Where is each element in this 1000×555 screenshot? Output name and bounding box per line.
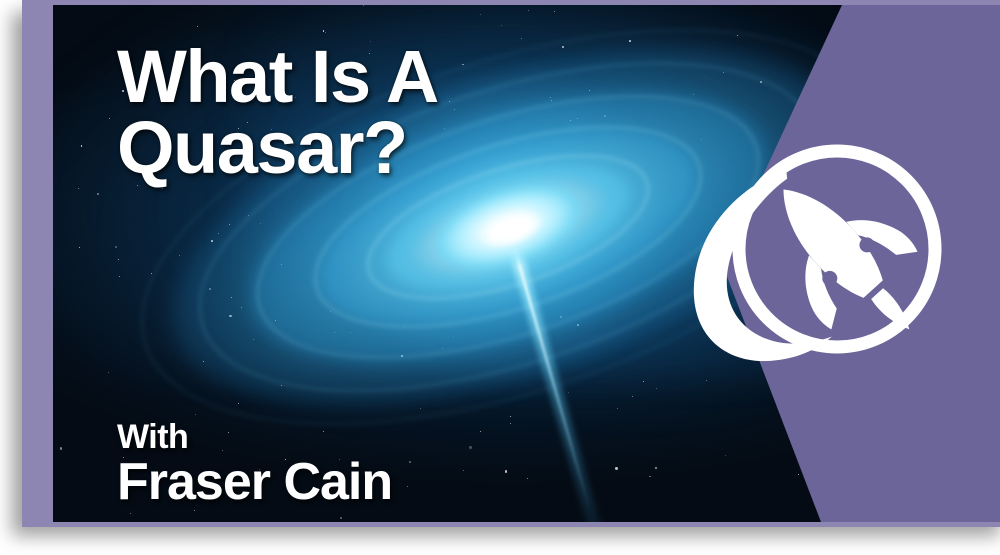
universe-today-rocket-logo	[693, 123, 953, 383]
page-title: What Is A Quasar?	[117, 41, 637, 183]
thumbnail-frame: What Is A Quasar? With Fraser Cain	[22, 0, 1000, 527]
thumbnail-canvas: What Is A Quasar? With Fraser Cain	[0, 0, 1000, 555]
byline-name: Fraser Cain	[117, 456, 392, 509]
title-line-2: Quasar?	[117, 112, 637, 183]
artwork-area: What Is A Quasar? With Fraser Cain	[53, 5, 1000, 522]
byline: With Fraser Cain	[117, 420, 392, 509]
byline-prefix: With	[117, 420, 392, 454]
